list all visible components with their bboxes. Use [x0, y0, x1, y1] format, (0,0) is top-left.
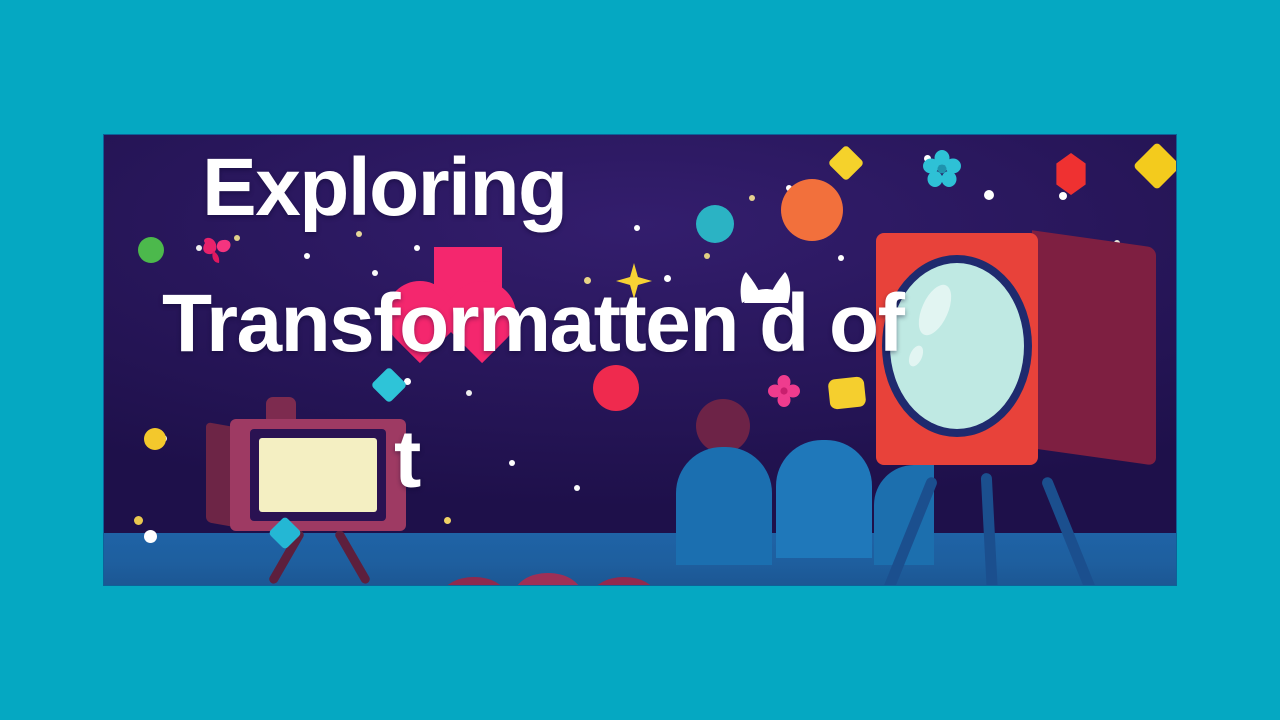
white-dot-icon [304, 253, 310, 259]
yellow-dot-icon [584, 277, 591, 284]
white-dot-icon [372, 270, 378, 276]
cyan-circle-icon [696, 205, 734, 243]
orange-circle-icon [781, 179, 843, 241]
yellow-rounded-square-icon [828, 376, 867, 410]
yellow-dot-icon [234, 235, 240, 241]
red-circle-icon [593, 365, 639, 411]
animated-title-card: Exploring Transformatten d of t [104, 135, 1176, 585]
pink-heart-icon [434, 247, 502, 315]
person-body [776, 440, 872, 558]
white-dot-icon [664, 275, 671, 282]
pink-butterfly-icon [200, 237, 234, 267]
cat-ears-icon [736, 269, 796, 305]
tv-antenna-base [266, 397, 296, 419]
person-head [696, 399, 750, 453]
white-dot-icon [466, 390, 472, 396]
yellow-dot-icon [749, 195, 755, 201]
white-dot-icon [984, 190, 994, 200]
white-dot-icon [634, 225, 640, 231]
yellow-dot-icon [444, 517, 451, 524]
projector-side-panel [1032, 230, 1156, 465]
yellow-dot-icon [144, 428, 166, 450]
projector-lens [890, 263, 1024, 429]
tv-screen [259, 438, 377, 512]
green-circle-icon [138, 237, 164, 263]
white-dot-icon [509, 460, 515, 466]
white-dot-icon [144, 530, 157, 543]
white-dot-icon [414, 245, 420, 251]
video-frame: Exploring Transformatten d of t [0, 0, 1280, 720]
pink-flower-icon [768, 375, 800, 407]
floor-band [104, 533, 1176, 585]
person-body [676, 447, 772, 565]
teal-flower-icon [922, 149, 962, 189]
white-dot-icon [1059, 192, 1067, 200]
yellow-dot-icon [704, 253, 710, 259]
yellow-dot-icon [356, 231, 362, 237]
white-dot-icon [574, 485, 580, 491]
yellow-dot-icon [134, 516, 143, 525]
white-dot-icon [838, 255, 844, 261]
